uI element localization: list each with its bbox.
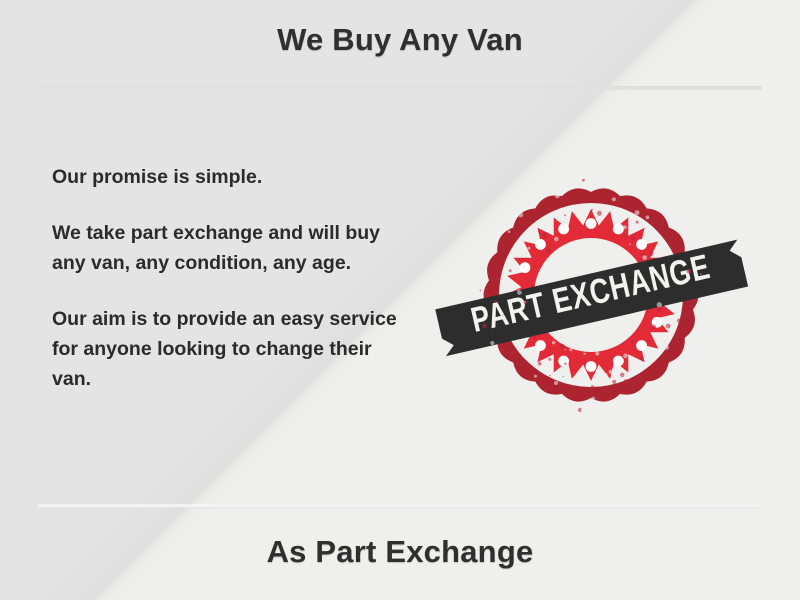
slide-header: We Buy Any Van: [0, 0, 800, 88]
stamp-speckle: [490, 341, 494, 345]
stamp-speckle: [526, 234, 531, 239]
stamp-dot: [558, 356, 569, 367]
stamp-speckle: [479, 289, 481, 291]
stamp-speckle: [660, 220, 665, 225]
stamp-speckle: [548, 358, 551, 361]
stamp-speckle: [560, 344, 565, 349]
stamp-speckle: [629, 243, 631, 245]
stamp-speckle: [564, 362, 567, 365]
stamp-speckle: [657, 307, 662, 312]
stamp-speckle: [630, 236, 634, 240]
stamp-speckle: [538, 362, 542, 366]
body-paragraph-3: Our aim is to provide an easy service fo…: [52, 304, 412, 394]
stamp-speckle: [562, 376, 563, 377]
stamp-speckle: [609, 370, 613, 374]
stamp-speckle: [623, 235, 626, 238]
stamp-speckle: [617, 390, 619, 392]
stamp-speckle: [552, 341, 555, 344]
stamp-banner: PART EXCHANGE: [435, 239, 748, 356]
stamp-speckle: [631, 340, 634, 343]
stamp-speckle: [494, 300, 497, 303]
stamp-speckle: [640, 357, 644, 361]
stamp-speckle: [510, 351, 514, 355]
stamp-speckle: [564, 349, 565, 350]
stamp-speckle: [546, 248, 551, 253]
slide-canvas: We Buy Any Van Our promise is simple. We…: [0, 0, 800, 600]
stamp-speckle: [531, 351, 537, 357]
stamp-speckle: [653, 317, 657, 321]
stamp-speckle: [549, 375, 551, 377]
stamp-speckle: [533, 335, 537, 339]
body-paragraph-2: We take part exchange and will buy any v…: [52, 218, 412, 278]
stamp-speckle: [652, 325, 657, 330]
stamp-dot: [636, 239, 647, 250]
stamp-speckle: [500, 348, 505, 353]
stamp-speckle: [607, 406, 610, 409]
stamp-speckle: [646, 216, 650, 220]
stamp-speckle: [490, 266, 492, 268]
stamp-speckle: [556, 371, 559, 374]
stamp-speckle: [687, 269, 692, 274]
stamp-speckle: [509, 269, 512, 272]
stamp-speckle: [612, 197, 616, 201]
stamp-dot: [636, 340, 647, 351]
stamp-speckle: [623, 353, 628, 358]
stamp-speckle: [612, 380, 616, 384]
stamp-speckle: [635, 210, 640, 215]
stamp-dot: [613, 356, 624, 367]
stamp-speckle: [649, 252, 653, 256]
stamp-speckle: [642, 255, 647, 260]
stamp-speckle: [534, 375, 537, 378]
stamp-speckle: [597, 211, 602, 216]
stamp-speckle: [691, 337, 694, 340]
stamp-speckle: [591, 385, 594, 388]
stamp-speckle: [677, 319, 681, 323]
stamp-speckle: [636, 221, 639, 224]
stamp-speckle: [613, 228, 617, 232]
stamp-speckle: [555, 193, 560, 198]
stamp-speckle: [543, 334, 545, 336]
stamp-speckle: [623, 225, 627, 229]
stamp-speckle: [629, 380, 631, 382]
stamp-dot: [535, 239, 546, 250]
page-title: We Buy Any Van: [0, 22, 800, 58]
stamp-speckle: [542, 233, 547, 238]
stamp-speckle: [554, 237, 559, 242]
body-copy: Our promise is simple. We take part exch…: [52, 162, 412, 394]
stamp-speckle: [592, 397, 596, 401]
part-exchange-stamp-icon: PART EXCHANGE: [478, 182, 704, 408]
stamp-speckle: [564, 214, 566, 216]
stamp-speckle: [524, 313, 526, 315]
stamp-speckle: [605, 373, 608, 376]
stamp-speckle: [534, 235, 537, 238]
stamp-speckle: [657, 302, 662, 307]
stamp-speckle: [664, 345, 669, 350]
stamp-dot: [586, 218, 597, 229]
stamp-speckle: [508, 230, 511, 233]
stamp-speckle: [583, 353, 585, 355]
slide-footer: As Part Exchange: [0, 504, 800, 600]
stamp-speckle: [603, 197, 606, 200]
stamp-speckle: [595, 352, 599, 356]
stamp-speckle: [590, 366, 593, 369]
stamp-speckle: [591, 209, 593, 211]
stamp-speckle: [581, 409, 584, 412]
stamp-speckle: [582, 179, 585, 182]
stamp-speckle: [517, 290, 522, 295]
stamp-speckle: [671, 236, 674, 239]
stamp-speckle: [522, 353, 526, 357]
stamp-speckle: [482, 324, 487, 329]
footer-title: As Part Exchange: [0, 534, 800, 570]
stamp-speckle: [617, 200, 621, 204]
stamp-speckle: [666, 324, 671, 329]
stamp-speckle: [524, 236, 526, 238]
stamp-dot: [520, 262, 531, 273]
stamp-dot: [558, 224, 569, 235]
stamp-speckle: [524, 301, 526, 303]
body-paragraph-1: Our promise is simple.: [52, 162, 412, 192]
stamp-speckle: [527, 247, 530, 250]
stamp-speckle: [610, 401, 612, 403]
stamp-speckle: [624, 379, 628, 383]
stamp-speckle: [569, 348, 572, 351]
stamp-speckle: [662, 324, 664, 326]
stamp-speckle: [554, 381, 558, 385]
footer-divider: [38, 504, 762, 508]
stamp-speckle: [642, 196, 647, 201]
stamp-speckle: [700, 273, 702, 275]
stamp-speckle: [518, 212, 523, 217]
stamp-speckle: [620, 373, 625, 378]
header-divider: [38, 86, 762, 90]
stamp-dot: [535, 340, 546, 351]
